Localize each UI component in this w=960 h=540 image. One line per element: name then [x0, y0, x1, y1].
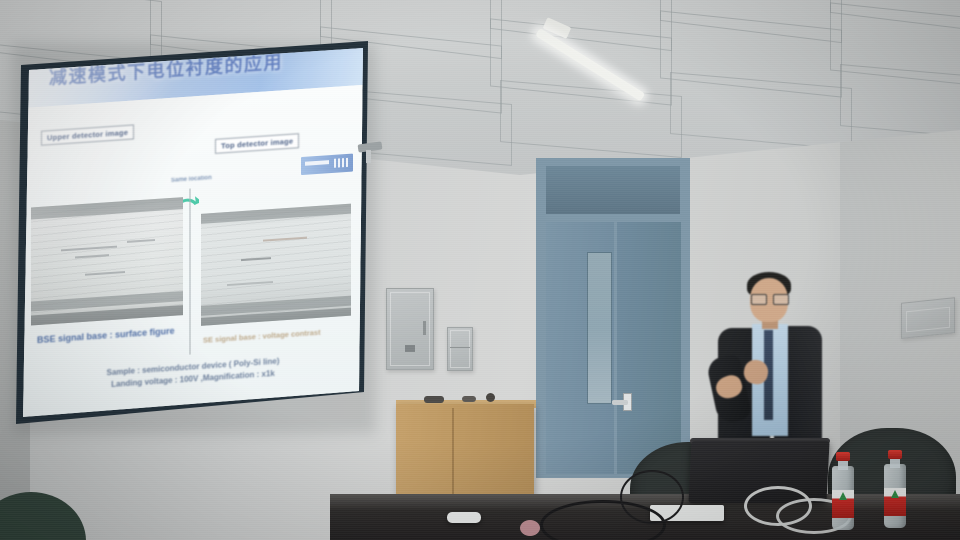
- pink-object: [520, 520, 540, 536]
- electrical-panel-small: [447, 327, 473, 371]
- sem-image-upper-detector: [31, 197, 183, 325]
- slide-logo-icon: [301, 154, 353, 176]
- same-location-label: Same location: [171, 175, 212, 184]
- electrical-panel-large: [386, 288, 434, 370]
- wall-sensor-arm: [366, 150, 371, 163]
- sem-image-top-detector: [201, 204, 351, 326]
- door-vision-panel: [587, 252, 612, 404]
- door-transom-window: [546, 166, 680, 214]
- slide-body: Upper detector image Same location Top d…: [23, 85, 363, 417]
- cabinet-item-remote[interactable]: [424, 396, 444, 403]
- upper-detector-image-tag: Upper detector image: [41, 124, 134, 145]
- remote-control[interactable]: [447, 512, 481, 523]
- slide-divider: [189, 189, 191, 355]
- left-image-caption: BSE signal base : surface figure: [37, 326, 175, 345]
- presentation-slide: 减速模式下电位衬度的应用 Upper detector image Same l…: [23, 46, 363, 417]
- projection-screen: 减速模式下电位衬度的应用 Upper detector image Same l…: [23, 46, 363, 417]
- glasses-icon: [751, 294, 787, 303]
- dark-cable-strand: [620, 470, 684, 524]
- cabinet-item-cup[interactable]: [486, 393, 495, 402]
- water-bottle-right[interactable]: [884, 450, 906, 528]
- wall-vent-panel-right: [901, 297, 955, 339]
- cabinet-item-clip[interactable]: [462, 396, 476, 402]
- bottle-cap-icon: [888, 450, 902, 459]
- door-leaf-right[interactable]: [617, 222, 681, 474]
- water-bottle-left[interactable]: [832, 452, 854, 530]
- right-image-caption: SE signal base : voltage contrast: [203, 328, 321, 345]
- conference-room-photo: 减速模式下电位衬度的应用 Upper detector image Same l…: [0, 0, 960, 540]
- bottle-cap-icon: [836, 452, 850, 461]
- door-handle[interactable]: [612, 400, 628, 405]
- top-detector-image-tag: Top detector image: [215, 133, 299, 154]
